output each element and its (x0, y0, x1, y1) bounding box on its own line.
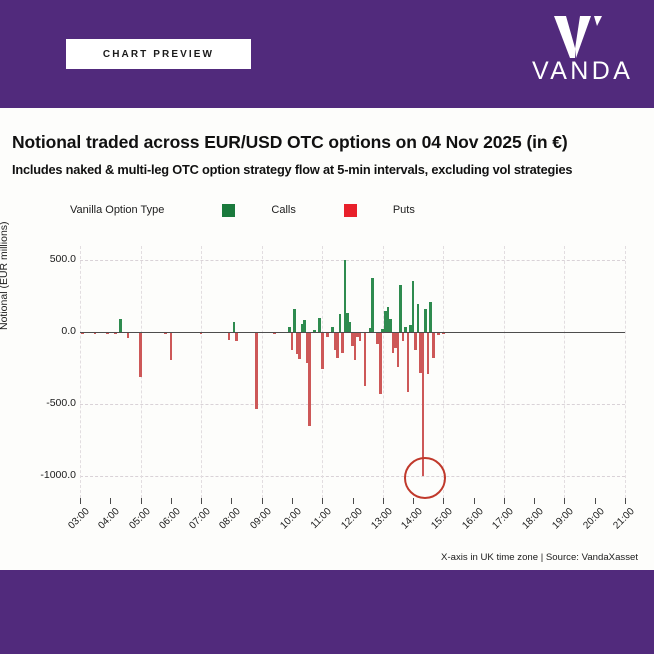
x-tick-mark (625, 498, 626, 504)
gridline-x (80, 246, 81, 498)
bar-put (341, 332, 344, 353)
bar-put (291, 332, 294, 349)
chart-legend: Vanilla Option Type Calls Puts (70, 201, 463, 219)
x-tick-mark (413, 498, 414, 504)
bar-call (233, 322, 236, 332)
bar-put (170, 332, 173, 360)
x-tick-mark (504, 498, 505, 504)
x-tick-mark (141, 498, 142, 504)
bar-call (412, 281, 415, 332)
legend-label-calls: Calls (271, 204, 295, 216)
x-tick-mark (322, 498, 323, 504)
x-tick-mark (171, 498, 172, 504)
gridline-x (322, 246, 323, 498)
bar-call (339, 314, 342, 333)
x-tick-mark (564, 498, 565, 504)
bar-put (298, 332, 301, 359)
x-tick-mark (443, 498, 444, 504)
x-tick-mark (262, 498, 263, 504)
bar-call (371, 278, 374, 333)
y-tick-label: -1000.0 (6, 469, 76, 481)
bar-call (303, 320, 306, 332)
vanda-wordmark: VANDA (532, 58, 632, 84)
x-tick-mark (110, 498, 111, 504)
gridline-x (564, 246, 565, 498)
legend-item-puts: Puts (344, 204, 415, 217)
vanda-logo: VANDA (530, 14, 640, 86)
bar-put (427, 332, 430, 374)
x-axis-tick-labels: 03:0004:0005:0006:0007:0008:0009:0010:00… (80, 506, 640, 550)
bar-call (417, 304, 420, 333)
bar-put (414, 332, 417, 350)
plot-area (80, 246, 625, 498)
plot-background (80, 246, 625, 498)
x-tick-mark (231, 498, 232, 504)
y-tick-label: 0.0 (6, 325, 76, 337)
bar-call (318, 318, 321, 332)
gridline-x (504, 246, 505, 498)
bar-put (139, 332, 142, 377)
x-tick-mark (80, 498, 81, 504)
chart-preview-label: CHART PREVIEW (103, 49, 214, 60)
bar-call (424, 309, 427, 333)
chart-screenshot: CHART PREVIEW VANDA Notional traded acro… (0, 0, 654, 654)
bar-put (397, 332, 400, 367)
bottom-banner (0, 570, 654, 654)
bar-call (429, 302, 432, 332)
x-tick-mark (595, 498, 596, 504)
x-tick-mark (534, 498, 535, 504)
zero-baseline (80, 332, 625, 333)
gridline-x (443, 246, 444, 498)
x-tick-mark (292, 498, 293, 504)
x-tick-mark (201, 498, 202, 504)
x-tick-mark (474, 498, 475, 504)
vanda-v-mark (550, 14, 606, 58)
gridline-y (80, 476, 625, 477)
x-tick-mark (383, 498, 384, 504)
bar-call (349, 322, 352, 333)
y-tick-label: -500.0 (6, 397, 76, 409)
bar-put (422, 332, 425, 476)
bar-put (321, 332, 324, 369)
gridline-x (625, 246, 626, 498)
bar-put (432, 332, 435, 357)
bar-put (402, 332, 405, 341)
bar-put (359, 332, 362, 341)
legend-label-puts: Puts (393, 204, 415, 216)
legend-swatch-puts (344, 204, 357, 217)
bar-call (293, 309, 296, 332)
bar-call (399, 285, 402, 333)
bar-put (228, 332, 231, 340)
gridline-x (201, 246, 202, 498)
chart-title: Notional traded across EUR/USD OTC optio… (12, 132, 642, 153)
legend-item-calls: Calls (222, 204, 295, 217)
bar-put (336, 332, 339, 357)
gridline-x (383, 246, 384, 498)
bar-put (379, 332, 382, 394)
bar-put (407, 332, 410, 392)
chart-subtitle: Includes naked & multi-leg OTC option st… (12, 162, 654, 177)
x-tick-mark (353, 498, 354, 504)
bar-put (235, 332, 238, 341)
legend-title: Vanilla Option Type (70, 204, 164, 216)
legend-swatch-calls (222, 204, 235, 217)
gridline-y (80, 260, 625, 261)
chart-preview-badge: CHART PREVIEW (66, 39, 251, 69)
gridline-y (80, 404, 625, 405)
y-tick-label: 500.0 (6, 253, 76, 265)
bar-call (389, 319, 392, 333)
chart-footnote: X-axis in UK time zone | Source: VandaXa… (441, 552, 638, 563)
gridline-x (262, 246, 263, 498)
bar-put (364, 332, 367, 385)
bar-put (255, 332, 258, 408)
bar-call (119, 319, 122, 333)
bar-put (308, 332, 311, 426)
y-axis-tick-labels: 500.00.0-500.0-1000.0 (0, 246, 76, 498)
